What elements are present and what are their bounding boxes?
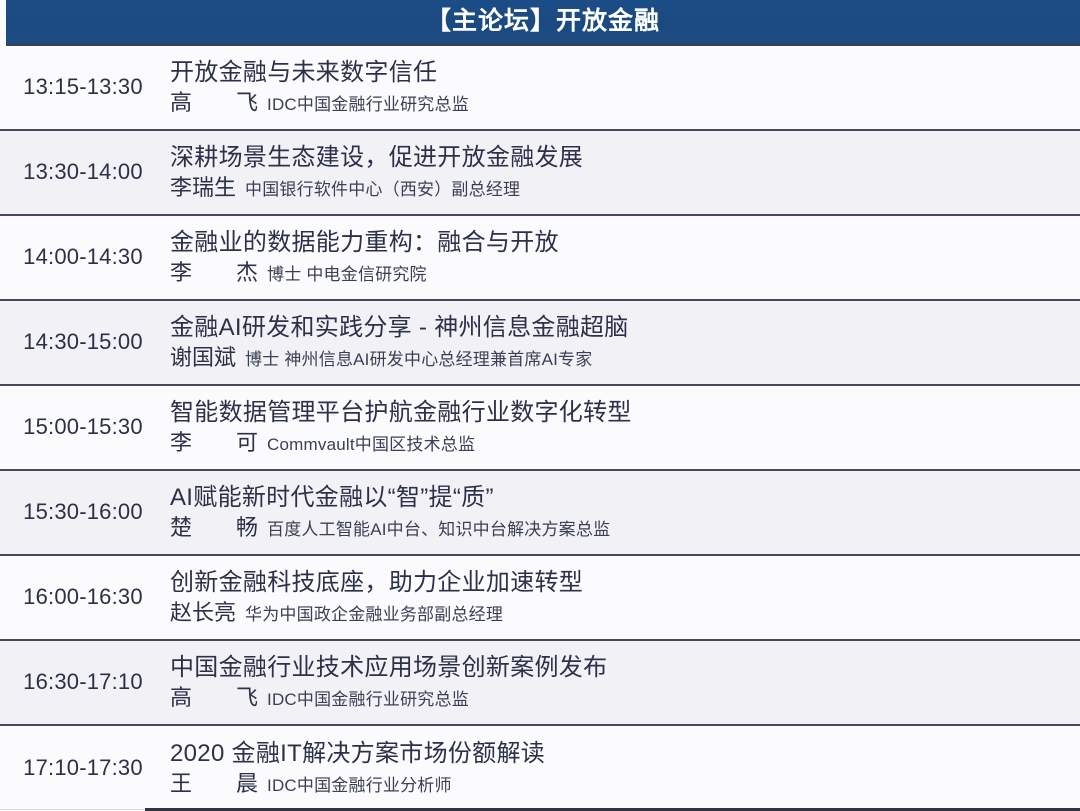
speaker-line: 赵长亮华为中国政企金融业务部副总经理 [170,600,1066,626]
session-content: 深耕场景生态建设，促进开放金融发展李瑞生中国银行软件中心（西安）副总经理 [166,131,1080,214]
session-title: 中国金融行业技术应用场景创新案例发布 [170,653,1066,682]
speaker-org: 博士 神州信息AI研发中心总经理兼首席AI专家 [245,350,592,370]
speaker-line: 楚 畅百度人工智能AI中台、知识中台解决方案总监 [170,515,1066,541]
page-title: 【主论坛】开放金融 [426,9,660,35]
speaker-line: 高 飞IDC中国金融行业研究总监 [170,685,1066,711]
agenda-row: 17:10-17:302020 金融IT解决方案市场份额解读王 晨IDC中国金融… [0,726,1080,811]
agenda-row: 16:00-16:30创新金融科技底座，助力企业加速转型赵长亮华为中国政企金融业… [0,556,1080,641]
speaker-line: 王 晨IDC中国金融行业分析师 [170,771,1066,797]
session-time: 13:15-13:30 [0,46,166,129]
speaker-org: Commvault中国区技术总监 [267,435,475,455]
speaker-org: 中国银行软件中心（西安）副总经理 [245,180,520,200]
session-title: 深耕场景生态建设，促进开放金融发展 [170,143,1066,172]
session-content: 金融AI研发和实践分享 - 神州信息金融超脑谢国斌博士 神州信息AI研发中心总经… [166,301,1080,384]
speaker-org: 百度人工智能AI中台、知识中台解决方案总监 [267,520,610,540]
session-title: 金融AI研发和实践分享 - 神州信息金融超脑 [170,313,1066,342]
agenda-row: 14:00-14:30金融业的数据能力重构：融合与开放李 杰博士 中电金信研究院 [0,216,1080,301]
speaker-org: IDC中国金融行业研究总监 [267,690,469,710]
session-title: 开放金融与未来数字信任 [170,58,1066,87]
session-content: 2020 金融IT解决方案市场份额解读王 晨IDC中国金融行业分析师 [166,726,1080,811]
session-time: 15:00-15:30 [0,386,166,469]
speaker-org: IDC中国金融行业研究总监 [267,95,469,115]
forum-header-bar: 【主论坛】开放金融 [6,0,1080,46]
session-time: 14:00-14:30 [0,216,166,299]
session-content: 金融业的数据能力重构：融合与开放李 杰博士 中电金信研究院 [166,216,1080,299]
agenda-row: 15:30-16:00AI赋能新时代金融以“智”提“质”楚 畅百度人工智能AI中… [0,471,1080,556]
session-time: 16:30-17:10 [0,641,166,724]
session-time: 14:30-15:00 [0,301,166,384]
session-title: 创新金融科技底座，助力企业加速转型 [170,568,1066,597]
agenda-row: 13:15-13:30开放金融与未来数字信任高 飞IDC中国金融行业研究总监 [0,46,1080,131]
session-title: AI赋能新时代金融以“智”提“质” [170,483,1066,512]
speaker-name: 李 可 [170,430,258,456]
speaker-name: 李瑞生 [170,175,236,201]
speaker-org: 华为中国政企金融业务部副总经理 [245,605,503,625]
session-content: AI赋能新时代金融以“智”提“质”楚 畅百度人工智能AI中台、知识中台解决方案总… [166,471,1080,554]
session-content: 开放金融与未来数字信任高 飞IDC中国金融行业研究总监 [166,46,1080,129]
speaker-line: 高 飞IDC中国金融行业研究总监 [170,90,1066,116]
agenda-row-list: 13:15-13:30开放金融与未来数字信任高 飞IDC中国金融行业研究总监13… [0,46,1080,811]
session-time: 15:30-16:00 [0,471,166,554]
speaker-line: 李 可Commvault中国区技术总监 [170,430,1066,456]
session-title: 2020 金融IT解决方案市场份额解读 [170,739,1066,768]
agenda-row: 14:30-15:00金融AI研发和实践分享 - 神州信息金融超脑谢国斌博士 神… [0,301,1080,386]
session-content: 智能数据管理平台护航金融行业数字化转型李 可Commvault中国区技术总监 [166,386,1080,469]
speaker-name: 谢国斌 [170,345,236,371]
speaker-line: 李瑞生中国银行软件中心（西安）副总经理 [170,175,1066,201]
speaker-name: 李 杰 [170,260,258,286]
session-title: 金融业的数据能力重构：融合与开放 [170,228,1066,257]
bottom-rule-left [0,809,145,810]
speaker-name: 楚 畅 [170,515,258,541]
session-time: 17:10-17:30 [0,726,166,811]
session-time: 16:00-16:30 [0,556,166,639]
agenda-panel: 【主论坛】开放金融 13:15-13:30开放金融与未来数字信任高 飞IDC中国… [0,0,1080,811]
session-time: 13:30-14:00 [0,131,166,214]
speaker-line: 李 杰博士 中电金信研究院 [170,260,1066,286]
session-title: 智能数据管理平台护航金融行业数字化转型 [170,398,1066,427]
session-content: 中国金融行业技术应用场景创新案例发布高 飞IDC中国金融行业研究总监 [166,641,1080,724]
speaker-org: 博士 中电金信研究院 [267,265,427,285]
speaker-name: 高 飞 [170,685,258,711]
speaker-line: 谢国斌博士 神州信息AI研发中心总经理兼首席AI专家 [170,345,1066,371]
speaker-name: 高 飞 [170,90,258,116]
speaker-org: IDC中国金融行业分析师 [267,776,452,796]
speaker-name: 王 晨 [170,771,258,797]
agenda-row: 16:30-17:10中国金融行业技术应用场景创新案例发布高 飞IDC中国金融行… [0,641,1080,726]
session-content: 创新金融科技底座，助力企业加速转型赵长亮华为中国政企金融业务部副总经理 [166,556,1080,639]
agenda-row: 15:00-15:30智能数据管理平台护航金融行业数字化转型李 可Commvau… [0,386,1080,471]
agenda-row: 13:30-14:00深耕场景生态建设，促进开放金融发展李瑞生中国银行软件中心（… [0,131,1080,216]
speaker-name: 赵长亮 [170,600,236,626]
